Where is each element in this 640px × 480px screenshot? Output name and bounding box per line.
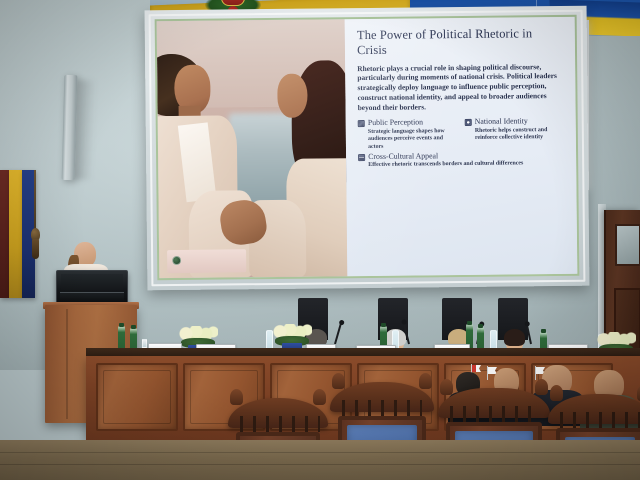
panelist-4-hair bbox=[504, 329, 525, 346]
drinking-glass-1 bbox=[142, 339, 147, 348]
banner-maroon bbox=[0, 170, 9, 298]
door-glass bbox=[615, 224, 640, 266]
slide-feature-3-desc: Effective rhetoric transcends borders an… bbox=[368, 160, 568, 170]
slide-text-panel: The Power of Political Rhetoric in Crisi… bbox=[345, 17, 578, 276]
slide-feature-2-heading: National Identity bbox=[465, 117, 566, 126]
chair-slats bbox=[450, 406, 538, 422]
scissors-icon bbox=[358, 120, 365, 127]
presentation-slide: The Power of Political Rhetoric in Crisi… bbox=[157, 17, 578, 278]
bottle-cap bbox=[119, 323, 124, 327]
slide-paragraph: Rhetoric plays a crucial role in shaping… bbox=[357, 61, 559, 112]
bottle-cap bbox=[541, 329, 546, 333]
podium-seam bbox=[66, 309, 68, 419]
floor-seam-2 bbox=[0, 464, 640, 465]
slide-title: The Power of Political Rhetoric in Crisi… bbox=[357, 26, 565, 58]
tassel-skirt bbox=[32, 239, 39, 259]
bottle-cap bbox=[381, 323, 386, 327]
chair-finial-right bbox=[419, 373, 432, 389]
bottle-cap bbox=[131, 325, 136, 329]
chair-finial-left bbox=[332, 373, 345, 389]
ceremonial-banners bbox=[0, 170, 44, 310]
chair-finial-left bbox=[440, 379, 453, 395]
slide-feature-1-desc: Strategic language shapes how audiences … bbox=[368, 128, 459, 152]
chair-finial-right bbox=[313, 389, 326, 405]
wall-speaker-icon bbox=[62, 75, 78, 180]
slide-feature-2-desc: Rhetoric helps construct and reinforce c… bbox=[475, 126, 566, 142]
banner-tassel bbox=[31, 170, 40, 265]
floor-seam-1 bbox=[0, 452, 640, 453]
slide-feature-column-left: Public Perception Strategic language sha… bbox=[358, 118, 459, 151]
tassel-cord bbox=[34, 170, 36, 232]
table-panel-1 bbox=[96, 363, 178, 431]
chair-slats bbox=[240, 416, 320, 432]
laptop-screen bbox=[61, 274, 123, 290]
bottle-cap bbox=[478, 324, 483, 328]
slide-feature-3: Cross-Cultural Appeal Effective rhetoric… bbox=[358, 150, 566, 169]
microphone-1 bbox=[334, 323, 342, 345]
chair-finial-left bbox=[550, 385, 563, 401]
laptop-keyboard bbox=[60, 292, 124, 302]
chair-finial-right bbox=[535, 379, 548, 395]
slide-feature-2-title: National Identity bbox=[475, 118, 528, 127]
chair-finial-left bbox=[230, 389, 243, 405]
slide-feature-3-title: Cross-Cultural Appeal bbox=[368, 152, 438, 161]
target-icon bbox=[465, 119, 472, 126]
chair-slats bbox=[560, 412, 640, 428]
slide-feature-grid: Public Perception Strategic language sha… bbox=[358, 117, 566, 151]
conference-hall-photo: The Power of Political Rhetoric in Crisi… bbox=[0, 0, 640, 480]
screen-inner-border: The Power of Political Rhetoric in Crisi… bbox=[155, 15, 580, 280]
slide-feature-column-right: National Identity Rhetoric helps constru… bbox=[465, 117, 566, 150]
banner-yellow-text bbox=[10, 232, 21, 292]
globe-icon bbox=[358, 154, 365, 161]
laptop[interactable] bbox=[56, 270, 128, 306]
slide-photo bbox=[157, 19, 348, 278]
bottle-cap bbox=[467, 321, 472, 325]
slide-feature-1-title: Public Perception bbox=[368, 119, 423, 128]
projection-screen: The Power of Political Rhetoric in Crisi… bbox=[145, 6, 590, 291]
chair-slats bbox=[342, 400, 422, 416]
hall-floor bbox=[0, 440, 640, 480]
banner-yellow bbox=[9, 170, 22, 298]
slide-feature-1-heading: Public Perception bbox=[358, 118, 459, 127]
